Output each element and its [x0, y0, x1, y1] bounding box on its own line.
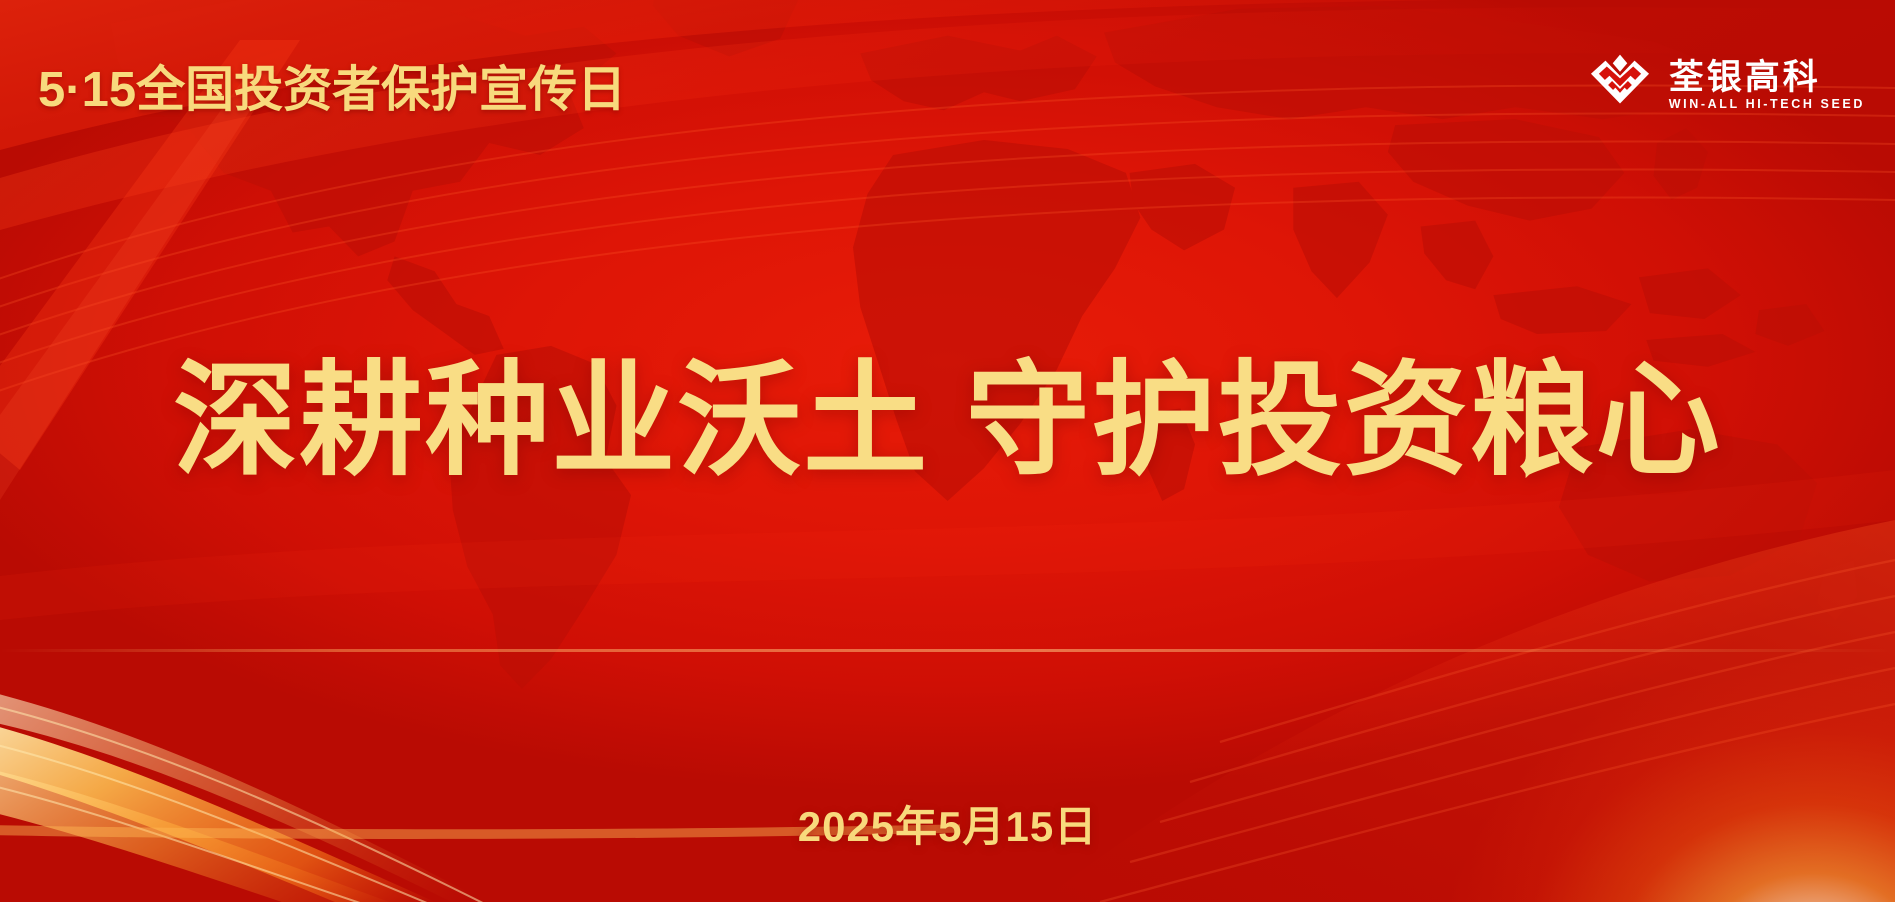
event-date: 2025年5月15日 [0, 793, 1895, 854]
main-slogan-title: 深耕种业沃土 守护投资粮心 [0, 352, 1895, 491]
company-logo: 荃银高科 WIN-ALL HI-TECH SEED [1587, 52, 1865, 118]
investor-protection-day-banner: 5·15全国投资者保护宣传日 荃银高科 WIN-ALL HI-TECH SEED… [0, 0, 1895, 902]
campaign-header-text: 5·15全国投资者保护宣传日 [38, 50, 626, 121]
logo-name-en: WIN-ALL HI-TECH SEED [1669, 98, 1865, 111]
logo-text-block: 荃银高科 WIN-ALL HI-TECH SEED [1669, 60, 1865, 111]
banner-content: 5·15全国投资者保护宣传日 荃银高科 WIN-ALL HI-TECH SEED… [0, 0, 1895, 902]
logo-name-cn: 荃银高科 [1669, 60, 1821, 95]
win-all-chevron-logo-icon [1587, 52, 1653, 118]
